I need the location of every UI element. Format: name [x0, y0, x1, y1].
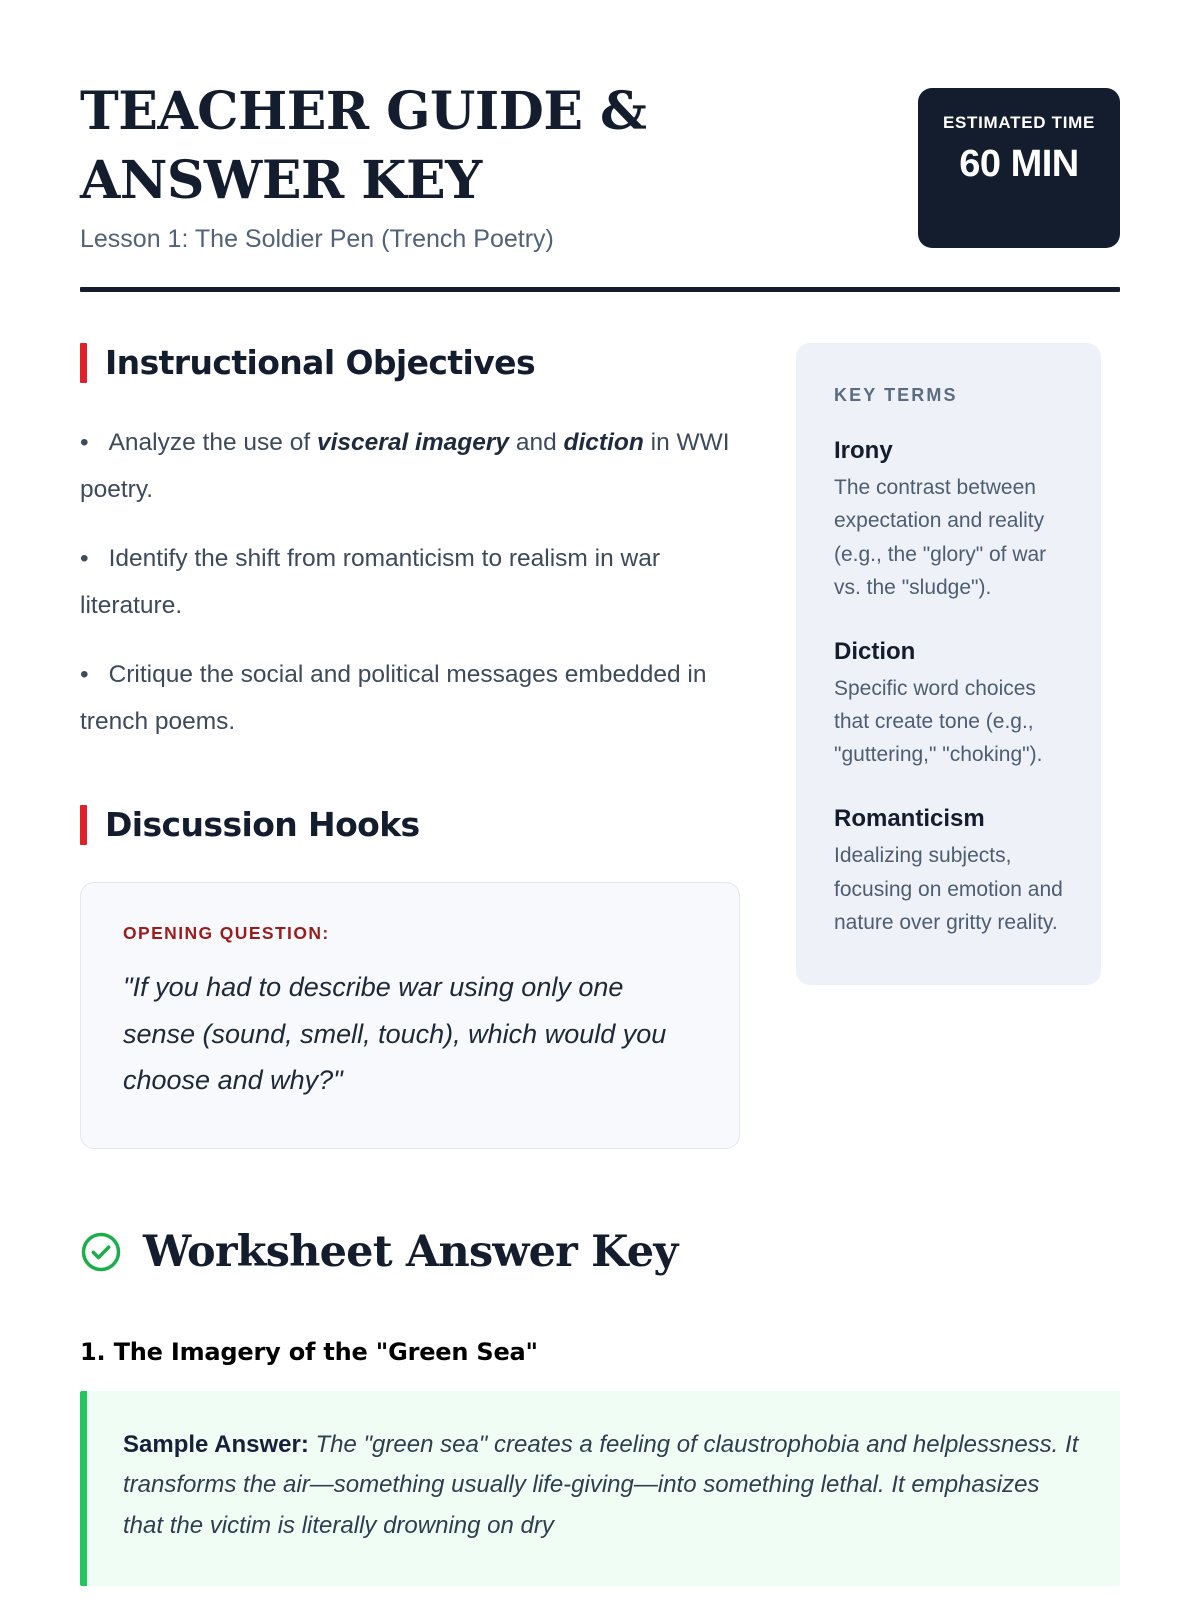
lesson-subtitle: Lesson 1: The Soldier Pen (Trench Poetry…: [80, 224, 870, 254]
key-term-name: Romanticism: [834, 804, 1063, 834]
list-item: •Identify the shift from romanticism to …: [80, 535, 740, 629]
red-accent-bar-icon: [80, 343, 87, 383]
objectives-heading-label: Instructional Objectives: [105, 345, 535, 381]
list-item-text: Critique the social and political messag…: [80, 661, 706, 735]
main-column: Instructional Objectives •Analyze the us…: [80, 343, 740, 1149]
document-header: TEACHER GUIDE & ANSWER KEY Lesson 1: The…: [80, 0, 1120, 254]
answer-key-heading: Worksheet Answer Key: [80, 1229, 1120, 1276]
sample-answer-box: Sample Answer: The "green sea" creates a…: [80, 1391, 1120, 1586]
list-item: •Analyze the use of visceral imagery and…: [80, 419, 740, 513]
key-term-definition: Idealizing subjects, focusing on emotion…: [834, 839, 1063, 939]
key-terms-list: IronyThe contrast between expectation an…: [834, 436, 1063, 939]
worksheet-answer-key-section: Worksheet Answer Key 1. The Imagery of t…: [80, 1229, 1120, 1586]
estimated-time-label: ESTIMATED TIME: [932, 110, 1106, 136]
opening-question-card: OPENING QUESTION: "If you had to describ…: [80, 882, 740, 1148]
key-term-definition: Specific word choices that create tone (…: [834, 672, 1063, 772]
answer-entries: 1. The Imagery of the "Green Sea"Sample …: [80, 1338, 1120, 1586]
bullet-dot-icon: •: [80, 545, 89, 572]
sample-answer-text: Sample Answer: The "green sea" creates a…: [123, 1425, 1084, 1546]
list-item-text: Identify the shift from romanticism to r…: [80, 545, 660, 619]
key-term-name: Diction: [834, 637, 1063, 667]
body-columns: Instructional Objectives •Analyze the us…: [80, 343, 1120, 1149]
key-term-name: Irony: [834, 436, 1063, 466]
key-terms-panel: KEY TERMS IronyThe contrast between expe…: [796, 343, 1101, 985]
header-divider: [80, 287, 1120, 292]
objectives-heading: Instructional Objectives: [80, 343, 740, 383]
estimated-time-value: 60 MIN: [932, 144, 1106, 186]
bullet-dot-icon: •: [80, 661, 89, 688]
sample-answer-label: Sample Answer:: [123, 1431, 309, 1458]
key-terms-title: KEY TERMS: [834, 385, 1063, 406]
page-title: TEACHER GUIDE & ANSWER KEY: [80, 78, 840, 215]
key-term-entry: RomanticismIdealizing subjects, focusing…: [834, 804, 1063, 939]
list-item-text: and: [509, 429, 564, 456]
hooks-heading: Discussion Hooks: [80, 805, 740, 845]
answer-question-title: 1. The Imagery of the "Green Sea": [80, 1338, 1120, 1366]
key-term-definition: The contrast between expectation and rea…: [834, 471, 1063, 604]
opening-question-text: "If you had to describe war using only o…: [123, 964, 697, 1103]
estimated-time-badge: ESTIMATED TIME 60 MIN: [918, 88, 1120, 248]
teacher-guide-document: TEACHER GUIDE & ANSWER KEY Lesson 1: The…: [0, 0, 1200, 1600]
objectives-list: •Analyze the use of visceral imagery and…: [80, 419, 740, 745]
hooks-heading-label: Discussion Hooks: [105, 807, 420, 843]
list-item: •Critique the social and political messa…: [80, 651, 740, 745]
sidebar-column: KEY TERMS IronyThe contrast between expe…: [796, 343, 1101, 985]
opening-question-label: OPENING QUESTION:: [123, 923, 697, 944]
bullet-dot-icon: •: [80, 429, 89, 456]
red-accent-bar-icon: [80, 805, 87, 845]
key-term-entry: DictionSpecific word choices that create…: [834, 637, 1063, 772]
key-term-entry: IronyThe contrast between expectation an…: [834, 436, 1063, 604]
emphasized-term: diction: [564, 429, 644, 456]
emphasized-term: visceral imagery: [317, 429, 509, 456]
header-text-block: TEACHER GUIDE & ANSWER KEY Lesson 1: The…: [80, 78, 870, 254]
list-item-text: Analyze the use of: [109, 429, 317, 456]
discussion-hooks-section: Discussion Hooks OPENING QUESTION: "If y…: [80, 805, 740, 1148]
answer-key-title: Worksheet Answer Key: [143, 1229, 678, 1276]
circle-check-icon: [80, 1231, 122, 1273]
